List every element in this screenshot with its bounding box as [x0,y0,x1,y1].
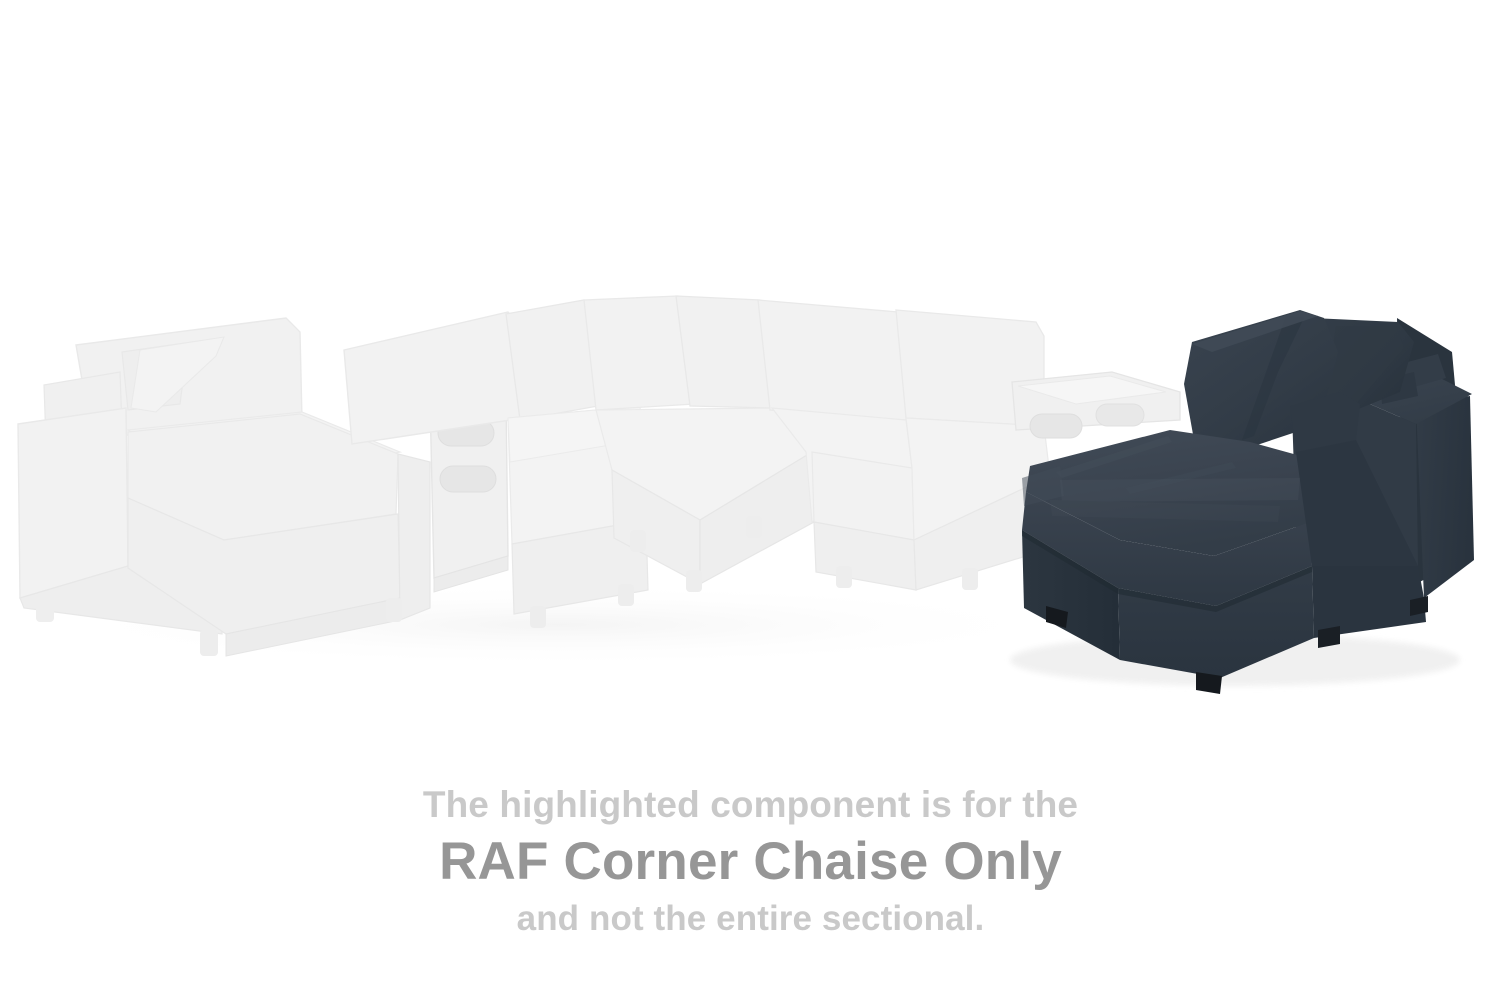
component-highlight-caption: The highlighted component is for the RAF… [0,782,1501,942]
ghost-leg [962,568,978,590]
caption-line-2-component-name: RAF Corner Chaise Only [0,828,1501,896]
ghost-leg [686,570,702,592]
ghost-leg [836,566,852,588]
caption-line-1: The highlighted component is for the [0,782,1501,828]
cup-holder-icon [1030,414,1082,438]
ghost-leg [618,584,634,606]
product-figure: The highlighted component is for the RAF… [0,0,1501,1000]
chaise-fabric-texture [1050,478,1300,522]
cup-holder-icon [1096,404,1144,426]
ghosted-sectional-group [18,296,1180,667]
ghost-leg [36,596,54,622]
ghost-leg [630,530,646,552]
ghost-leg [530,606,546,628]
ghost-leg [200,630,218,656]
caption-line-3: and not the entire sectional. [0,896,1501,942]
ghost-leg [386,598,402,622]
ghost-leg [746,516,762,538]
cup-holder-icon [440,466,496,492]
